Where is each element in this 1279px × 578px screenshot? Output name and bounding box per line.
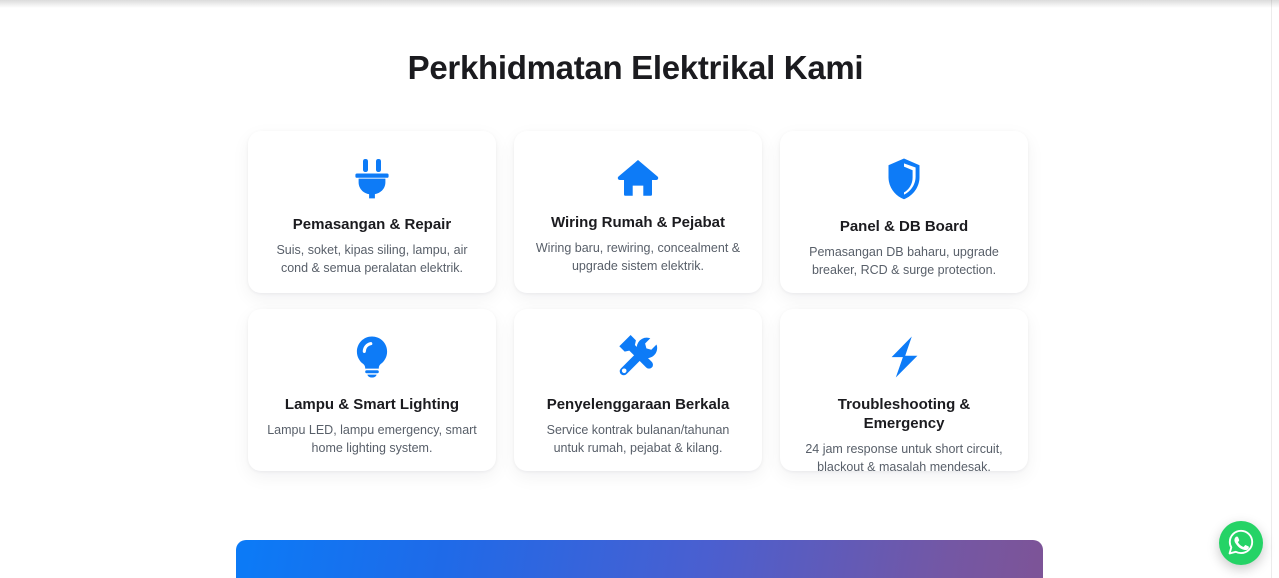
service-card-description: Service kontrak bulanan/tahunan untuk ru…: [532, 421, 744, 457]
lightning-bolt-icon: [882, 335, 926, 379]
services-card-grid: Pemasangan & Repair Suis, soket, kipas s…: [248, 131, 1028, 471]
service-card-title: Troubleshooting & Emergency: [798, 395, 1010, 433]
home-icon: [616, 157, 660, 197]
service-card[interactable]: Wiring Rumah & Pejabat Wiring baru, rewi…: [514, 131, 762, 293]
service-card-description: 24 jam response untuk short circuit, bla…: [798, 440, 1010, 476]
service-card-title: Lampu & Smart Lighting: [285, 395, 459, 414]
service-card[interactable]: Panel & DB Board Pemasangan DB baharu, u…: [780, 131, 1028, 293]
cta-gradient-banner: [236, 540, 1043, 578]
service-card[interactable]: Penyelenggaraan Berkala Service kontrak …: [514, 309, 762, 471]
shield-icon: [882, 157, 926, 201]
service-card-title: Pemasangan & Repair: [293, 215, 451, 234]
service-card-description: Suis, soket, kipas siling, lampu, air co…: [266, 241, 478, 277]
lightbulb-icon: [350, 335, 394, 379]
service-card-title: Panel & DB Board: [840, 217, 968, 236]
service-card[interactable]: Pemasangan & Repair Suis, soket, kipas s…: [248, 131, 496, 293]
service-card-description: Wiring baru, rewiring, concealment & upg…: [532, 239, 744, 275]
whatsapp-icon: [1228, 529, 1254, 558]
plug-icon: [350, 157, 394, 199]
page-scrollbar[interactable]: [1271, 0, 1279, 578]
page-title: Perkhidmatan Elektrikal Kami: [0, 47, 1271, 89]
service-card-description: Pemasangan DB baharu, upgrade breaker, R…: [798, 243, 1010, 279]
service-card-title: Wiring Rumah & Pejabat: [551, 213, 725, 232]
whatsapp-float-button[interactable]: [1219, 521, 1263, 565]
services-page: Perkhidmatan Elektrikal Kami Pemasangan …: [0, 0, 1271, 578]
service-card[interactable]: Lampu & Smart Lighting Lampu LED, lampu …: [248, 309, 496, 471]
service-card[interactable]: Troubleshooting & Emergency 24 jam respo…: [780, 309, 1028, 471]
service-card-title: Penyelenggaraan Berkala: [547, 395, 730, 414]
service-card-description: Lampu LED, lampu emergency, smart home l…: [266, 421, 478, 457]
tools-icon: [616, 335, 660, 379]
